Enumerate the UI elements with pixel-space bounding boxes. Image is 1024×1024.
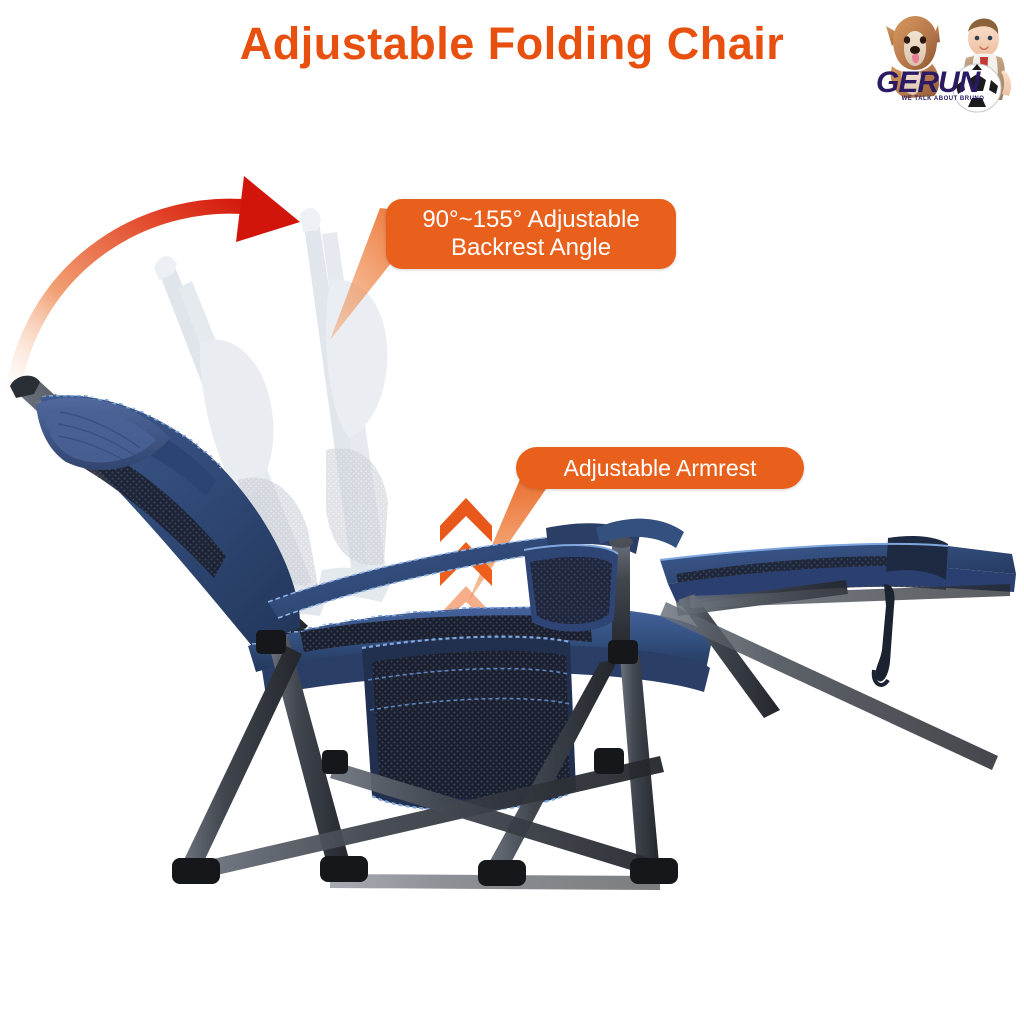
callout-backrest-line2: Backrest Angle [451, 234, 611, 261]
brand-wordmark: GERUN [876, 68, 996, 98]
rotation-arrow-icon [14, 176, 300, 386]
brand-tagline: WE TALK ABOUT BRUNO [888, 96, 998, 102]
brand-logo: GERUN WE TALK ABOUT BRUNO [868, 4, 1020, 116]
callout-backrest-line1: 90°~155° Adjustable [422, 206, 639, 233]
callout-adjustable-armrest[interactable]: Adjustable Armrest [516, 447, 804, 489]
callout-backrest-angle[interactable]: 90°~155° Adjustable Backrest Angle [386, 199, 676, 269]
callout-armrest-label: Adjustable Armrest [563, 455, 756, 482]
footrest-extension [660, 536, 1016, 770]
infographic-page: Adjustable Folding Chair [0, 0, 1024, 1024]
cup-holder-pouch [524, 545, 618, 631]
